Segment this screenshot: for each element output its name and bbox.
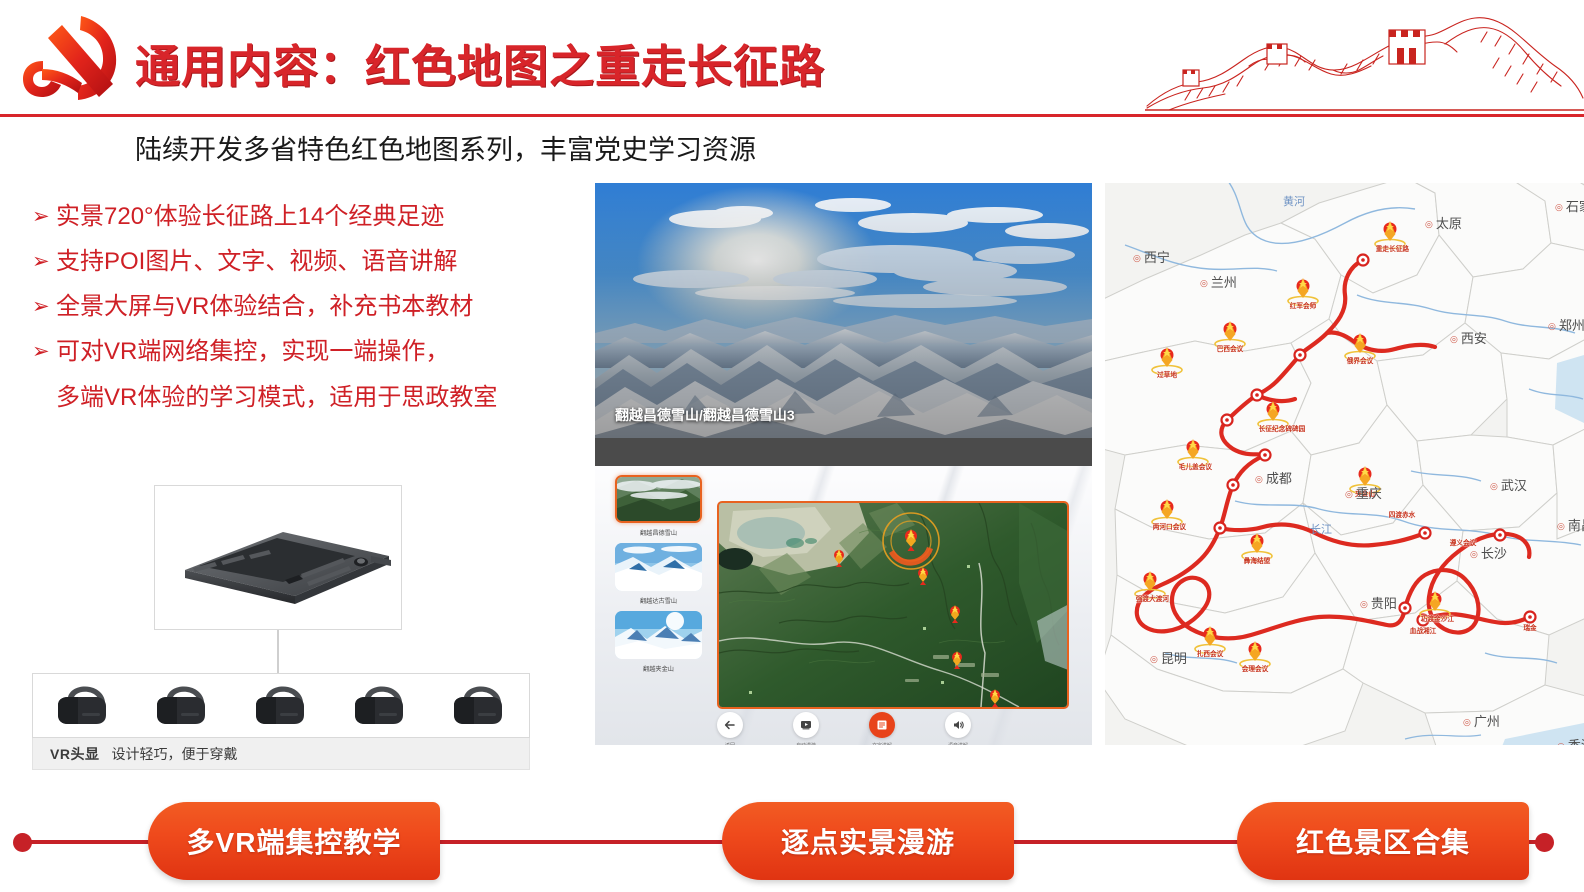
poi-label: 俄界会议 (1346, 356, 1375, 366)
poi-label: 重走长征路 (1376, 244, 1405, 254)
poi-label-wrap[interactable]: 巧渡金沙江 (1420, 615, 1450, 624)
city-label: 广州 (1463, 711, 1500, 730)
thumbnail-item[interactable]: 翻越达古雪山 (615, 543, 702, 605)
river-label: 黄河 (1283, 193, 1305, 209)
endpoint-label: 血战湘江 (1409, 626, 1438, 636)
thumbnail-item[interactable]: 翻越夹金山 (615, 611, 702, 673)
poi-label: 彝海结盟 (1243, 556, 1272, 566)
header-divider (0, 114, 1584, 117)
poi-label-wrap[interactable]: 会理会议 (1240, 665, 1270, 674)
poi-label-wrap[interactable]: 巴西会议 (1215, 345, 1245, 354)
auto-roam-icon (793, 712, 819, 738)
city-label: 长沙 (1470, 543, 1507, 562)
auto-roam-button[interactable]: 自动漫游 (787, 712, 825, 745)
thumbnail-image (615, 543, 702, 591)
panorama-bottom-strip (595, 438, 1092, 466)
city-label: 武汉 (1490, 475, 1527, 494)
player-toolbar: 返回 自动漫游 文字讲解 (595, 711, 1092, 745)
long-march-route-map[interactable]: 重走长征路 红军会师 巴西会议 俄界会议 过草地 长征纪念碑碑园 毛儿盖会议 夹… (1105, 183, 1584, 745)
vr-topology-diagram: VR头显 设计轻巧，便于穿戴 (32, 455, 530, 770)
slide-header: 通用内容：红色地图之重走长征路 (0, 0, 1584, 118)
thumbnail-label: 翻越达古雪山 (617, 595, 700, 605)
river-label: 长江 (1310, 521, 1332, 537)
poi-label-wrap[interactable]: 重走长征路 (1375, 245, 1405, 254)
city-label: 南昌 (1557, 515, 1584, 534)
list-item: ➢ 支持POI图片、文字、视频、语音讲解 (32, 245, 592, 278)
vr-caption: VR头显 设计轻巧，便于穿戴 (32, 738, 530, 770)
tool-label: 返回 (712, 741, 746, 745)
great-wall-icon (1145, 8, 1584, 114)
bullet-arrow-icon: ➢ (32, 200, 56, 233)
bullet-arrow-icon: ➢ (32, 290, 56, 323)
poi-label: 长征纪念碑碑园 (1259, 424, 1288, 434)
poi-label-wrap[interactable]: 过草地 (1152, 371, 1182, 380)
audio-guide-button[interactable]: 语音讲解 (939, 712, 977, 745)
city-label: 太原 (1425, 213, 1462, 232)
bullet-text: 实景720°体验长征路上14个经典足迹 (56, 200, 444, 233)
thumbnail-label: 翻越昌德雪山 (617, 527, 700, 537)
poi-label-wrap[interactable]: 红军会师 (1288, 302, 1318, 311)
poi-label-wrap[interactable]: 四渡赤水 (1387, 511, 1417, 520)
poi-label-wrap[interactable]: 毛儿盖会议 (1178, 463, 1208, 472)
vr-headset-icon (151, 683, 213, 729)
vr-caption-desc: 设计轻巧，便于穿戴 (111, 744, 237, 764)
text-guide-button[interactable]: 文字讲解 (863, 712, 901, 745)
tool-label: 自动漫游 (788, 741, 822, 745)
bullet-text: 支持POI图片、文字、视频、语音讲解 (56, 245, 457, 278)
feature-bullet-list: ➢ 实景720°体验长征路上14个经典足迹 ➢ 支持POI图片、文字、视频、语音… (32, 200, 592, 416)
list-item: ➢ 全景大屏与VR体验结合，补充书本教材 (32, 290, 592, 323)
city-label: 重庆 (1345, 483, 1382, 502)
endpoint-label-wrap[interactable]: 血战湘江 (1408, 627, 1438, 636)
poi-label: 强渡大渡河 (1136, 594, 1165, 604)
poi-label-wrap[interactable]: 彝海结盟 (1242, 557, 1272, 566)
bullet-arrow-icon: ➢ (32, 335, 56, 368)
bullet-text: 可对VR端网络集控，实现一端操作， (56, 335, 449, 368)
banner-label: 多VR端集控教学 (187, 821, 402, 861)
back-arrow-icon (717, 712, 743, 738)
banner-red-scenic-collection[interactable]: 红色景区合集 (1237, 802, 1529, 880)
poi-label: 扎西会议 (1196, 649, 1225, 659)
tool-label: 文字讲解 (864, 741, 898, 745)
page-title: 通用内容：红色地图之重走长征路 (135, 30, 825, 95)
city-label: 西宁 (1133, 247, 1170, 266)
city-label: 成都 (1255, 468, 1292, 487)
poi-label: 会理会议 (1241, 664, 1270, 674)
poi-label: 两河口会议 (1153, 522, 1182, 532)
vr-headset-icon (250, 683, 312, 729)
poi-label: 过草地 (1153, 370, 1182, 380)
tool-label: 语音讲解 (940, 741, 974, 745)
thumbnail-image (615, 611, 702, 659)
banner-multi-vr-teaching[interactable]: 多VR端集控教学 (148, 802, 440, 880)
thumbnail-image (615, 475, 702, 523)
vr-player-screenshot: 翻越昌德雪山/翻越昌德雪山3 翻越昌德雪山 翻越达古雪山 (595, 183, 1092, 745)
list-item: ➢ 可对VR端网络集控，实现一端操作， (32, 335, 592, 368)
bottom-banner-row: 多VR端集控教学 逐点实景漫游 红色景区合集 (0, 790, 1584, 892)
banner-point-roaming[interactable]: 逐点实景漫游 (722, 802, 1014, 880)
vr-headset-icon (448, 683, 510, 729)
thumbnail-label: 翻越夹金山 (617, 663, 700, 673)
poi-label: 巴西会议 (1216, 344, 1245, 354)
page-subtitle: 陆续开发多省特色红色地图系列，丰富党史学习资源 (135, 128, 756, 167)
banner-endpoint-dot-right (1535, 833, 1554, 852)
poi-label-wrap[interactable]: 强渡大渡河 (1135, 595, 1165, 604)
vr-headset-group (32, 673, 530, 738)
vr-caption-title: VR头显 (50, 744, 99, 764)
city-label: 西安 (1450, 328, 1487, 347)
poi-label: 巧渡金沙江 (1421, 614, 1450, 624)
banner-label: 逐点实景漫游 (781, 821, 955, 861)
bullet-text-continuation: 多端VR体验的学习模式，适用于思政教室 (56, 380, 592, 416)
radar-ring-icon (883, 513, 939, 569)
city-label: 兰州 (1200, 272, 1237, 291)
poi-label: 毛儿盖会议 (1179, 462, 1208, 472)
hammer-sickle-icon (18, 12, 128, 107)
vr-headset-icon (349, 683, 411, 729)
diagram-connector (277, 630, 279, 675)
bullet-arrow-icon: ➢ (32, 245, 56, 278)
city-label: 香港 (1557, 735, 1584, 745)
vr-server-box-icon (154, 485, 402, 630)
list-item: ➢ 实景720°体验长征路上14个经典足迹 (32, 200, 592, 233)
text-guide-icon (869, 712, 895, 738)
poi-label: 四渡赤水 (1388, 510, 1417, 520)
banner-endpoint-dot-left (13, 833, 32, 852)
satellite-map[interactable] (717, 501, 1069, 709)
poi-label-wrap[interactable]: 两河口会议 (1152, 523, 1182, 532)
banner-label: 红色景区合集 (1296, 821, 1470, 861)
back-button[interactable]: 返回 (711, 712, 749, 745)
city-label: 石家庄 (1555, 196, 1584, 215)
panorama-caption: 翻越昌德雪山/翻越昌德雪山3 (615, 405, 795, 425)
city-label: 昆明 (1150, 648, 1187, 667)
poi-label: 红军会师 (1289, 301, 1318, 311)
poi-label-wrap[interactable]: 长征纪念碑碑园 (1258, 425, 1288, 434)
thumbnail-item[interactable]: 翻越昌德雪山 (615, 475, 702, 537)
vr-headset-icon (52, 683, 114, 729)
poi-label-wrap[interactable]: 扎西会议 (1195, 650, 1225, 659)
endpoint-label-wrap[interactable]: 瑞金 (1515, 624, 1545, 633)
bullet-text: 全景大屏与VR体验结合，补充书本教材 (56, 290, 473, 323)
endpoint-label: 瑞金 (1516, 623, 1545, 633)
city-label: 郑州 (1548, 315, 1584, 334)
city-label: 贵阳 (1360, 593, 1397, 612)
speaker-icon (945, 712, 971, 738)
poi-label-wrap[interactable]: 俄界会议 (1345, 357, 1375, 366)
